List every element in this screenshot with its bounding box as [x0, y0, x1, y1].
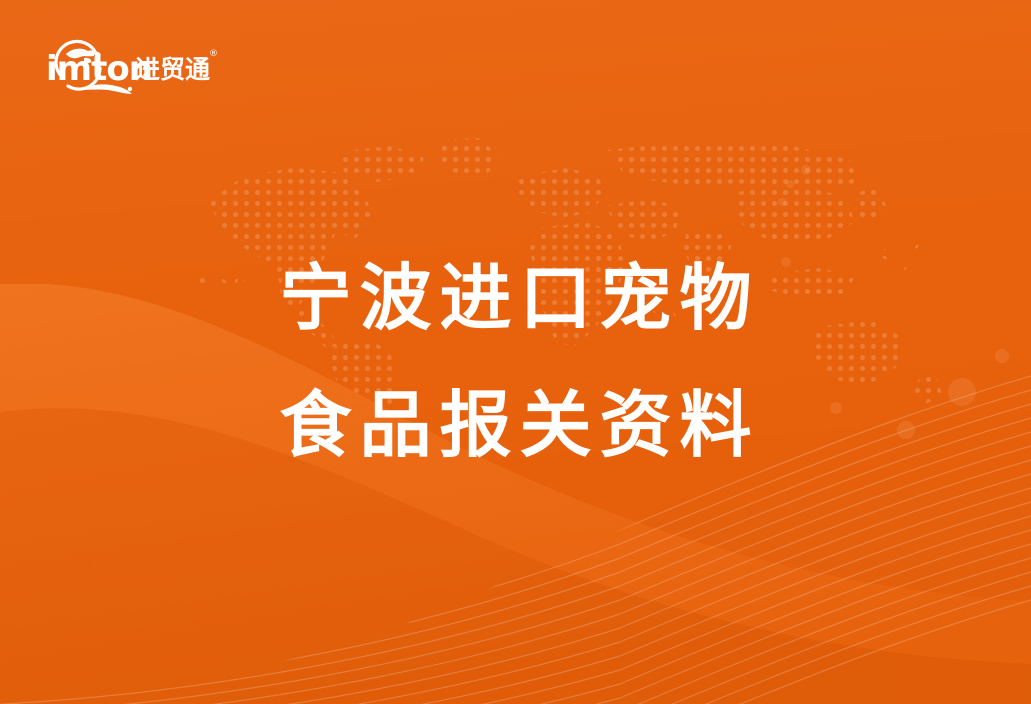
page-title-line-1: 宁波进口宠物 — [0, 262, 1031, 334]
page-title-line-2: 食品报关资料 — [0, 389, 1031, 461]
page-title: 宁波进口宠物 食品报关资料 — [0, 262, 1031, 461]
background-sheen — [0, 0, 1031, 704]
trademark-symbol: ® — [209, 49, 218, 59]
bokeh-dots — [0, 0, 1031, 704]
dotted-world-map — [186, 132, 946, 432]
poster-canvas: imton 进贸通 ® 宁波进口宠物 食品报关资料 — [0, 0, 1031, 704]
wave-decoration — [0, 284, 1031, 704]
brand-logo[interactable]: imton 进贸通 ® — [38, 28, 218, 100]
logo-chinese-name: 进贸通 — [135, 55, 210, 84]
